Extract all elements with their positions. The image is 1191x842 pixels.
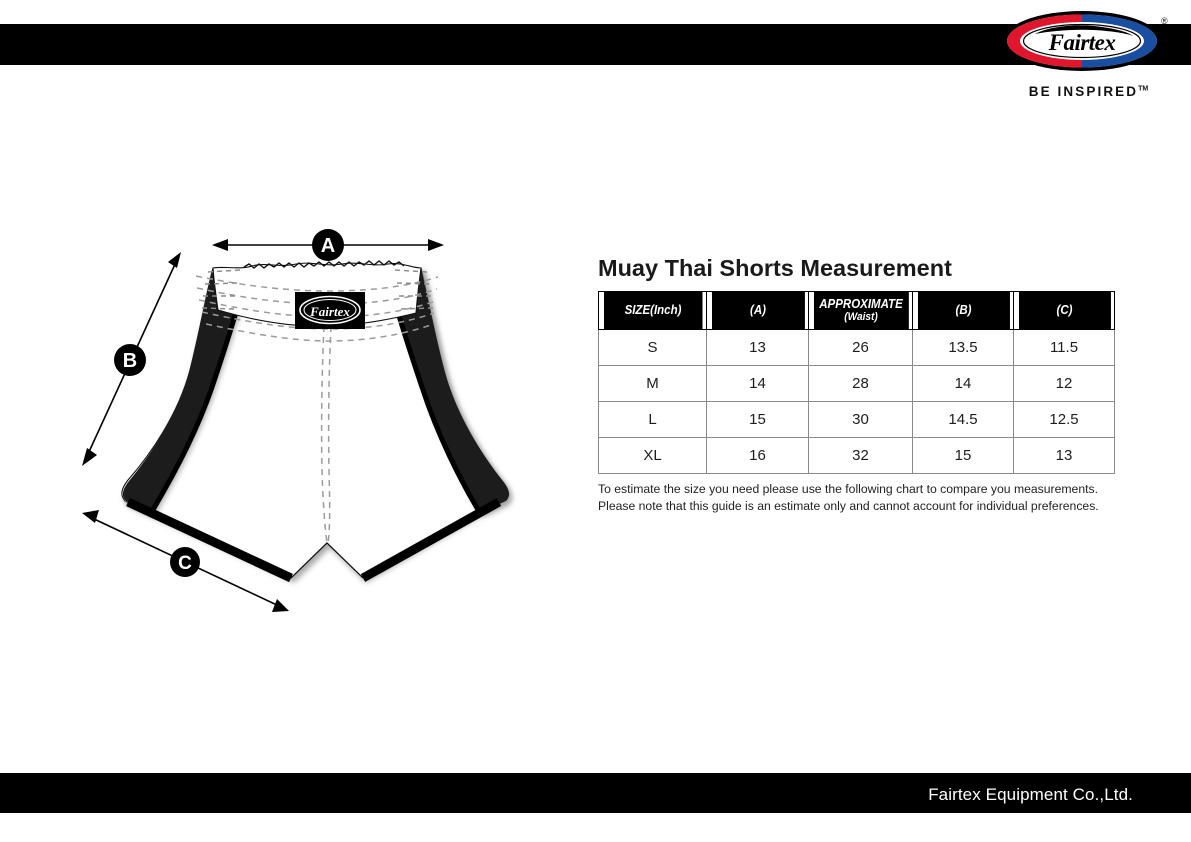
waistband-brand-label: Fairtex (295, 292, 365, 329)
fairtex-logo: Fairtex ® BE INSPIREDTM (1000, 8, 1185, 103)
column-header-b-text: (B) (955, 303, 971, 317)
column-header-a: (A) (711, 292, 805, 330)
registered-mark: ® (1161, 16, 1168, 26)
sizing-note-line-2: Please note that this guide is an estima… (598, 498, 1128, 515)
size-measurement-table: SIZE(Inch) (A) APPROXIMATE(Waist) (B) (C… (598, 291, 1115, 474)
cell-waist: 30 (809, 402, 913, 438)
column-header-waist-text: APPROXIMATE (819, 297, 902, 311)
callout-c-label: C (178, 553, 192, 574)
cell-waist: 28 (809, 366, 913, 402)
size-chart-page: Fairtex ® BE INSPIREDTM (0, 0, 1191, 842)
column-header-size-text: SIZE(Inch) (624, 303, 681, 317)
column-header-waist-sub: (Waist) (813, 311, 908, 324)
cell-waist: 26 (809, 330, 913, 366)
arrowhead-c-left (82, 510, 99, 523)
table-row: XL 16 32 15 13 (599, 438, 1115, 474)
cell-size: M (599, 366, 707, 402)
column-header-b: (B) (917, 292, 1010, 330)
arrowhead-a-left (212, 239, 228, 251)
fairtex-oval-icon: Fairtex (1002, 10, 1162, 72)
cell-a: 15 (707, 402, 809, 438)
callout-a-label: A (321, 235, 335, 257)
arrowhead-b-top (168, 252, 181, 268)
cell-size: S (599, 330, 707, 366)
footer-company-name: Fairtex Equipment Co.,Ltd. (928, 785, 1133, 805)
sizing-note: To estimate the size you need please use… (598, 481, 1128, 516)
cell-a: 14 (707, 366, 809, 402)
svg-text:Fairtex: Fairtex (1048, 30, 1116, 55)
waistband-label-text: Fairtex (309, 304, 350, 319)
cell-a: 16 (707, 438, 809, 474)
shorts-illustration: Fairtex (122, 261, 509, 578)
dimension-a: A (212, 229, 444, 261)
arrowhead-a-right (428, 239, 444, 251)
fairtex-logo-oval: Fairtex (1002, 10, 1162, 72)
trademark-mark: TM (1138, 86, 1148, 93)
cell-c: 13 (1014, 438, 1115, 474)
arrowhead-b-bottom (82, 448, 97, 466)
arrowhead-c-right (272, 599, 289, 612)
sizing-note-line-1: To estimate the size you need please use… (598, 481, 1128, 498)
shorts-diagram: Fairtex A B (0, 0, 600, 700)
cell-size: XL (599, 438, 707, 474)
cell-waist: 32 (809, 438, 913, 474)
column-header-c-text: (C) (1056, 303, 1072, 317)
cell-a: 13 (707, 330, 809, 366)
cell-size: L (599, 402, 707, 438)
cell-b: 15 (913, 438, 1014, 474)
logo-tagline: BE INSPIREDTM (1006, 84, 1171, 99)
callout-b-label: B (123, 350, 137, 372)
cell-b: 14.5 (913, 402, 1014, 438)
shorts-diagram-svg: Fairtex A B (0, 0, 600, 700)
column-header-c: (C) (1018, 292, 1111, 330)
column-header-waist: APPROXIMATE(Waist) (813, 292, 909, 330)
cell-c: 11.5 (1014, 330, 1115, 366)
table-row: M 14 28 14 12 (599, 366, 1115, 402)
column-header-a-text: (A) (750, 303, 766, 317)
table-row: S 13 26 13.5 11.5 (599, 330, 1115, 366)
cell-b: 13.5 (913, 330, 1014, 366)
cell-c: 12.5 (1014, 402, 1115, 438)
page-title: Muay Thai Shorts Measurement (598, 255, 952, 282)
table-row: L 15 30 14.5 12.5 (599, 402, 1115, 438)
logo-tagline-text: BE INSPIRED (1029, 84, 1138, 99)
table-header-row: SIZE(Inch) (A) APPROXIMATE(Waist) (B) (C… (599, 292, 1115, 330)
cell-c: 12 (1014, 366, 1115, 402)
cell-b: 14 (913, 366, 1014, 402)
column-header-size: SIZE(Inch) (603, 292, 702, 330)
